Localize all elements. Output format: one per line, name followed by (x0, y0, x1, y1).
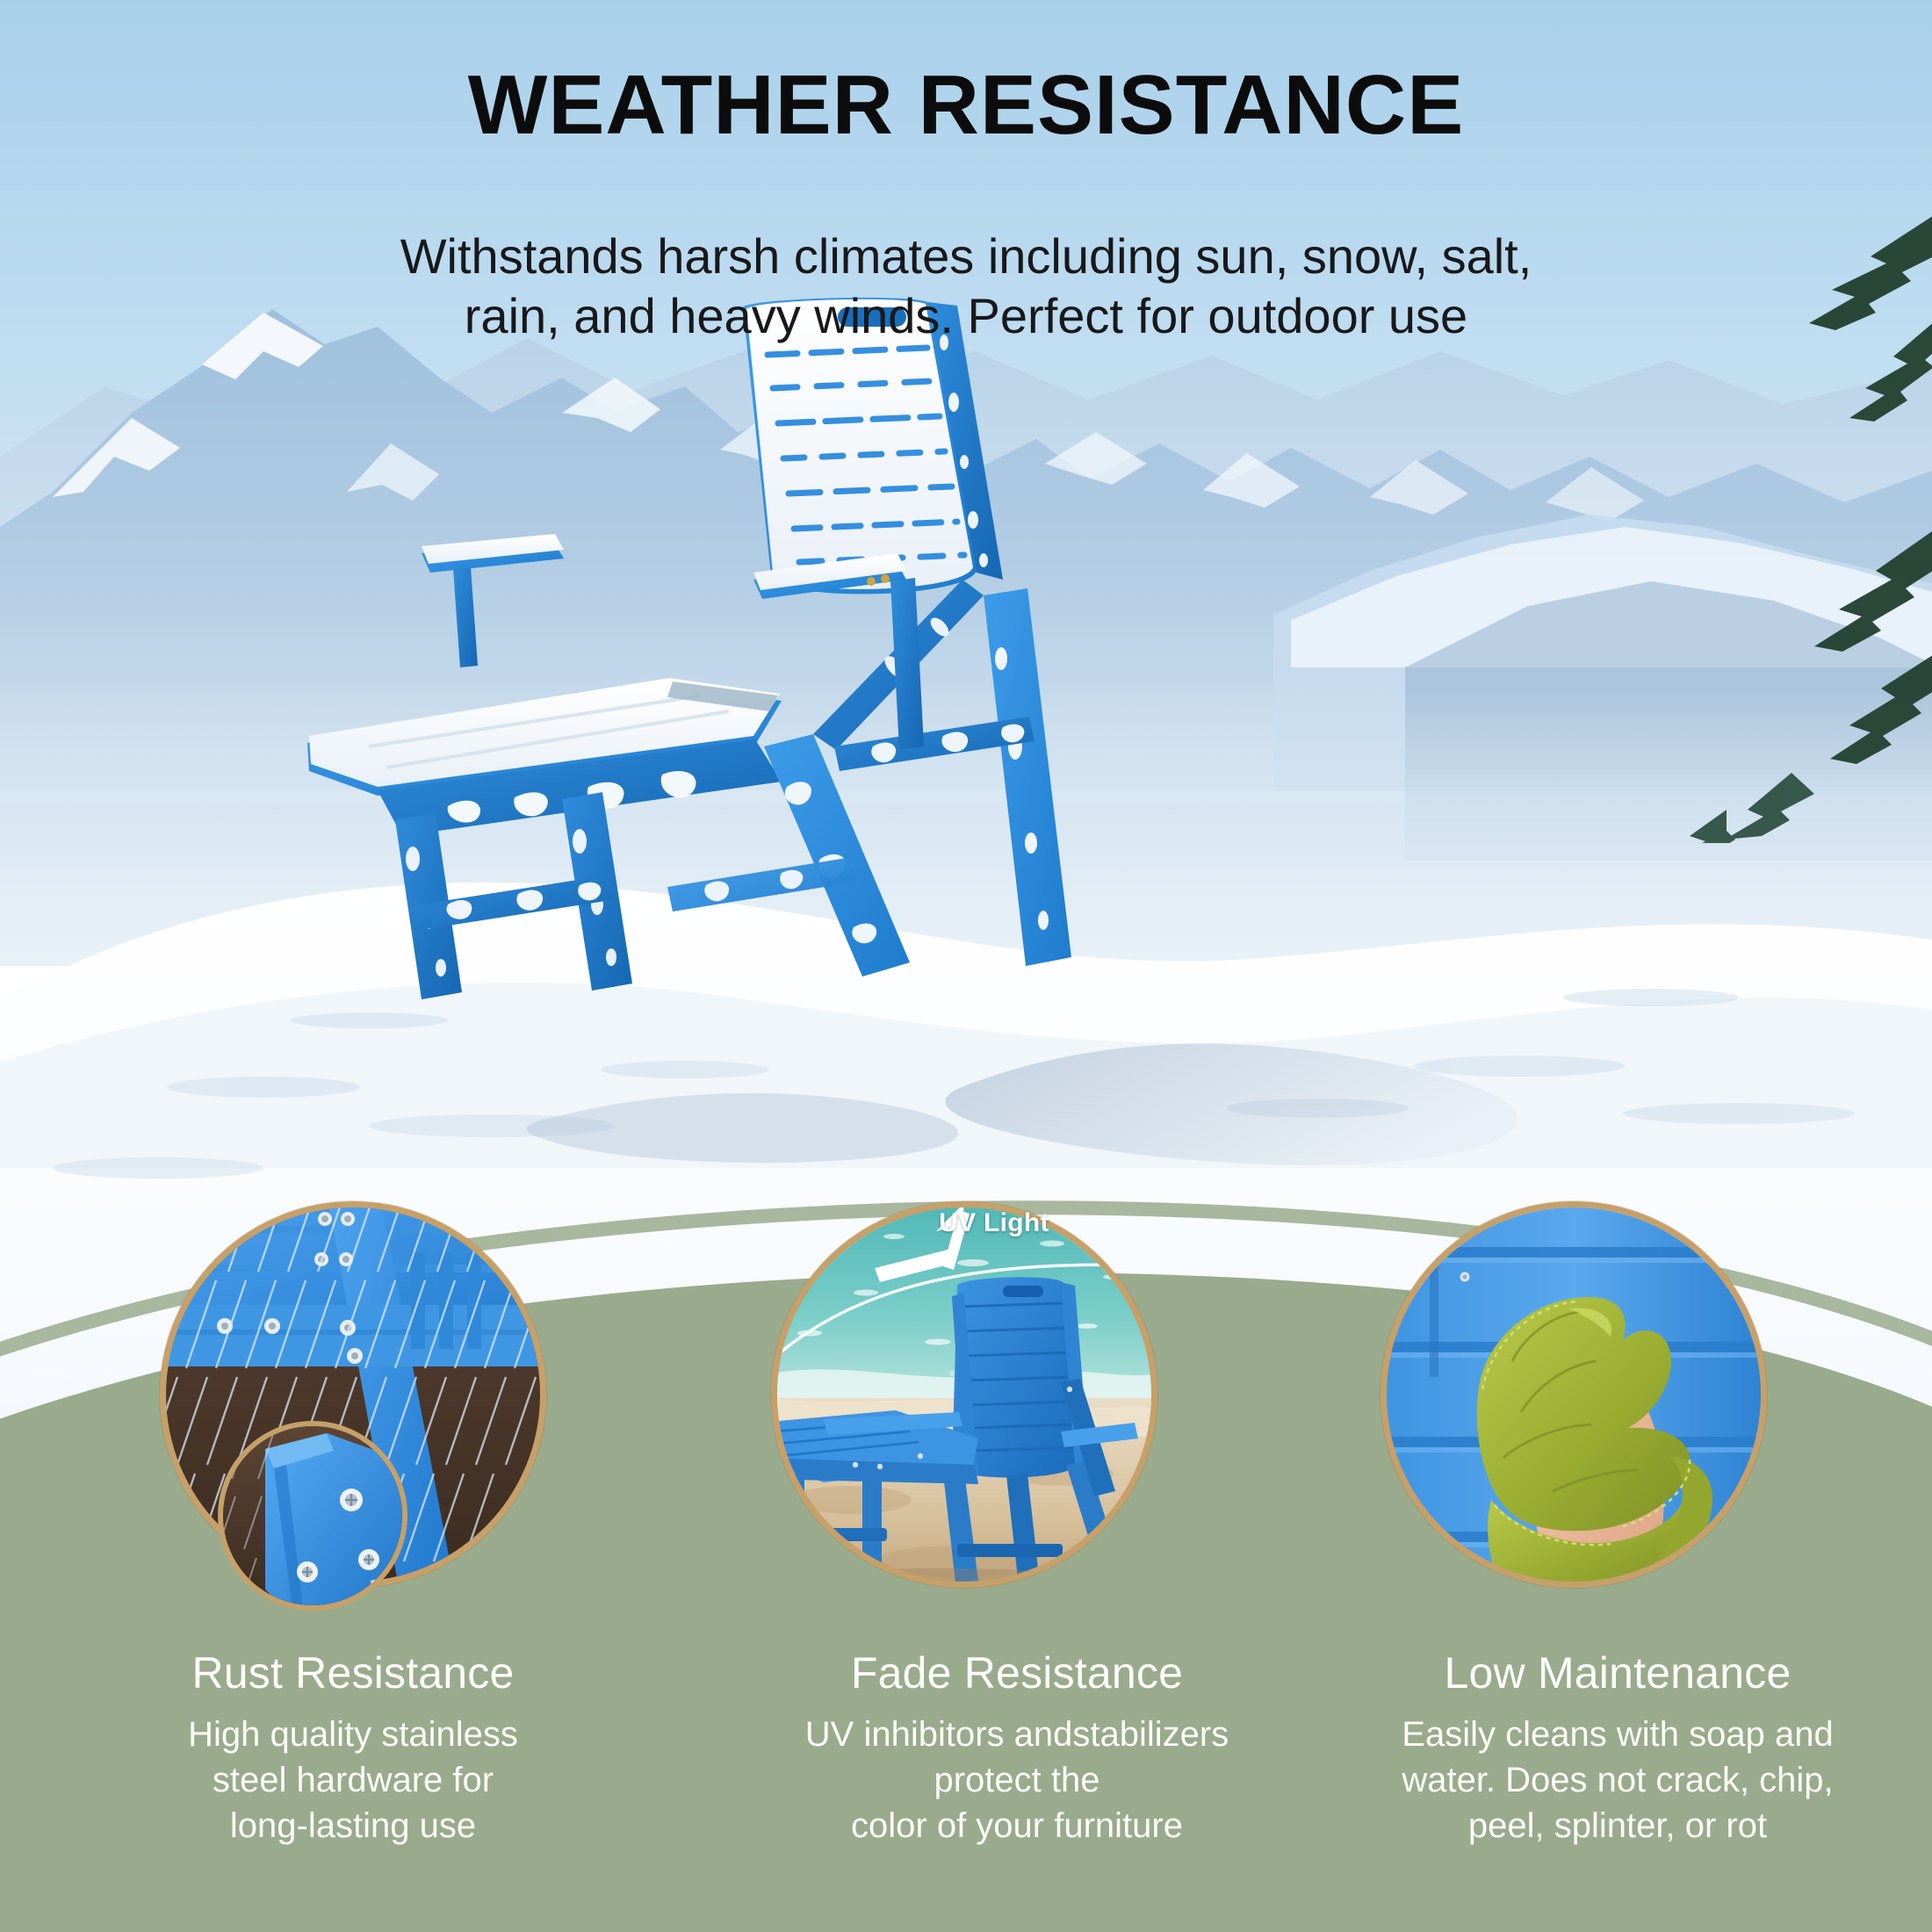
caption-title: Rust Resistance (63, 1649, 643, 1698)
caption-line: water. Does not crack, chip, (1328, 1757, 1907, 1803)
feature-image-low-maintenance (1381, 1201, 1767, 1588)
caption-title: Fade Resistance (727, 1649, 1307, 1698)
infographic-canvas: WEATHER RESISTANCE Withstands harsh clim… (0, 0, 1932, 1932)
caption-fade-resistance: Fade Resistance UV inhibitors andstabili… (727, 1649, 1307, 1849)
uv-light-label: UV Light (906, 1208, 1082, 1238)
caption-title: Low Maintenance (1328, 1649, 1907, 1698)
subtitle-line-2: rain, and heavy winds. Perfect for outdo… (263, 286, 1669, 346)
caption-line: long-lasting use (63, 1803, 643, 1849)
feature-image-fade-resistance (771, 1201, 1157, 1588)
beach-chair-uv-illustration (771, 1201, 1157, 1588)
caption-line: peel, splinter, or rot (1328, 1803, 1907, 1849)
evergreen-branch (1651, 158, 1932, 843)
screw-closeup-magnifier (218, 1421, 407, 1611)
caption-body: High quality stainless steel hardware fo… (63, 1712, 643, 1849)
subtitle-line-1: Withstands harsh climates including sun,… (263, 227, 1669, 286)
caption-line: High quality stainless (63, 1712, 643, 1757)
hand-wiping-cloth-illustration (1381, 1201, 1767, 1588)
caption-line: color of your furniture (727, 1803, 1307, 1849)
page-subtitle: Withstands harsh climates including sun,… (263, 227, 1669, 347)
page-title: WEATHER RESISTANCE (0, 63, 1932, 148)
caption-line: Easily cleans with soap and (1328, 1712, 1907, 1757)
caption-rust-resistance: Rust Resistance High quality stainless s… (63, 1649, 643, 1849)
caption-body: UV inhibitors andstabilizers protect the… (727, 1712, 1307, 1849)
caption-line: steel hardware for (63, 1757, 643, 1803)
caption-body: Easily cleans with soap and water. Does … (1328, 1712, 1907, 1849)
caption-low-maintenance: Low Maintenance Easily cleans with soap … (1328, 1649, 1907, 1849)
hero-product-chaise-lounge (290, 290, 1344, 1080)
caption-line: UV inhibitors andstabilizers (727, 1712, 1307, 1757)
caption-line: protect the (727, 1757, 1307, 1803)
